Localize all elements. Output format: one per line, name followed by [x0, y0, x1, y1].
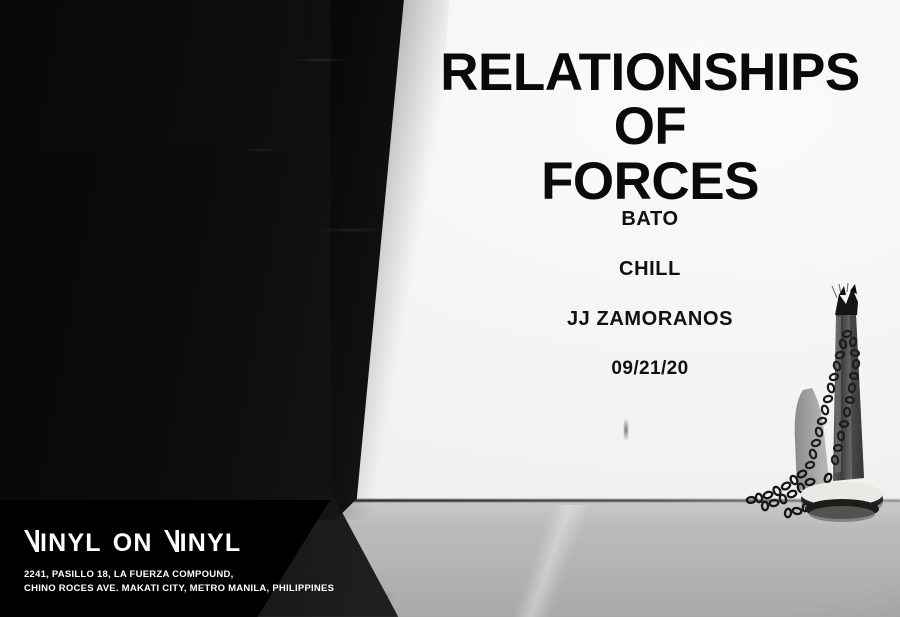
angular-v-icon-2 [164, 530, 179, 552]
gallery-address: 2241, PASILLO 18, LA FUERZA COMPOUND, CH… [24, 568, 334, 596]
address-line-2: CHINO ROCES AVE. MAKATI CITY, METRO MANI… [24, 582, 334, 596]
title-line-2: OF [420, 102, 880, 152]
wall-blemishes [200, 20, 430, 320]
wall-scuff-mark [624, 420, 628, 440]
gallery-identity-block: INYL ON INYL 2241, PASILLO 18, LA FUERZA… [0, 500, 340, 617]
bollard-base-foot [809, 506, 875, 522]
angular-v-icon [24, 530, 39, 552]
artist-name-3: JJ ZAMORANOS [420, 308, 880, 331]
logotype-word-vinyl-1: INYL [24, 529, 102, 556]
address-line-1: 2241, PASILLO 18, LA FUERZA COMPOUND, [24, 568, 334, 582]
poster-title: RELATIONSHIPS OF FORCES [420, 48, 880, 207]
gallery-logotype: INYL ON INYL [24, 529, 241, 556]
logotype-word-vinyl-2: INYL [164, 529, 242, 556]
credits-list: BATO CHILL JJ ZAMORANOS 09/21/20 [420, 208, 880, 380]
exhibition-date: 09/21/20 [420, 358, 880, 380]
floor-sweep-track [414, 505, 686, 617]
title-line-1: RELATIONSHIPS [420, 48, 880, 98]
logotype-word-on: ON [113, 531, 153, 556]
title-line-3: FORCES [420, 157, 880, 207]
post-cast-shadow [795, 388, 830, 490]
artist-name-2: CHILL [420, 258, 880, 281]
logotype-vinyl-2-rest: INYL [180, 531, 242, 556]
logotype-vinyl-1-rest: INYL [40, 531, 102, 556]
poster-canvas: RELATIONSHIPS OF FORCES BATO CHILL JJ ZA… [0, 0, 900, 617]
artist-name-1: BATO [420, 208, 880, 231]
